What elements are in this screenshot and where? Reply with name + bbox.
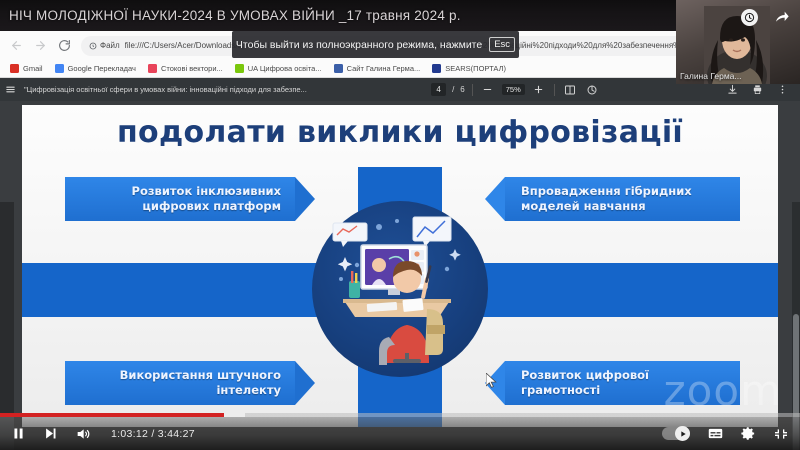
rotate-icon[interactable] [584, 82, 600, 98]
banner-line-2: моделей навчання [521, 199, 726, 214]
bookmark-item[interactable]: SEARS(ПОРТАЛ) [432, 64, 506, 73]
total-duration: 3:44:27 [158, 428, 195, 440]
esc-key-badge: Esc [489, 37, 515, 52]
recorded-window-title: НІЧ МОЛОДІЖНОЇ НАУКИ-2024 В УМОВАХ ВІЙНИ… [0, 8, 461, 23]
file-scheme-label: Файл [89, 41, 120, 50]
bookmark-label: Google Перекладач [68, 64, 136, 73]
plus-icon[interactable] [531, 82, 547, 98]
toolbar-divider [472, 84, 473, 96]
pause-icon[interactable] [11, 426, 26, 441]
hamburger-menu-icon[interactable] [0, 84, 20, 95]
bookmark-favicon [55, 64, 64, 73]
toolbar-divider [554, 84, 555, 96]
remote-learning-illustration [327, 213, 477, 365]
banner-line-1: Розвиток інклюзивних [83, 184, 281, 199]
two-page-view-icon[interactable] [562, 82, 578, 98]
page-indicator: 4 / 6 [431, 83, 465, 96]
autoplay-knob [675, 426, 690, 441]
participant-name: Галина Герма... [680, 71, 742, 81]
bookmark-favicon [334, 64, 343, 73]
connector-band-left [22, 263, 340, 317]
bookmark-item[interactable]: UA Цифрова освіта... [235, 64, 322, 73]
autoplay-toggle[interactable] [662, 427, 690, 440]
bookmark-favicon [10, 64, 19, 73]
pdf-document-title: "Цифровізація освітньої сфери в умовах в… [24, 85, 307, 94]
bookmark-label: SEARS(ПОРТАЛ) [445, 64, 506, 73]
zoom-watermark: zoom [664, 370, 782, 412]
gear-icon[interactable] [741, 426, 756, 441]
bookmark-label: Сайт Галина Герма... [347, 64, 421, 73]
mouse-cursor-icon [486, 373, 497, 393]
zoom-controls: 75% [480, 82, 547, 98]
file-scheme-text: Файл [100, 41, 120, 50]
slide-title: подолати виклики цифровізації [22, 115, 778, 150]
participant-video-thumbnail[interactable]: Галина Герма... [676, 0, 800, 84]
bookmark-item[interactable]: Стокові вектори... [148, 64, 223, 73]
volume-icon[interactable] [75, 426, 91, 442]
arrow-left-icon[interactable] [9, 38, 24, 53]
connector-band-right [474, 263, 778, 317]
bookmark-item[interactable]: Gmail [10, 64, 43, 73]
video-frame[interactable]: НІЧ МОЛОДІЖНОЇ НАУКИ-2024 В УМОВАХ ВІЙНИ… [0, 0, 800, 450]
clock-icon [741, 9, 758, 26]
banner-top-right: Впровадження гібридних моделей навчання [505, 177, 740, 221]
fullscreen-exit-toast: Чтобы выйти из полноэкранного режима, на… [232, 31, 519, 58]
banner-line-2: цифрових платформ [83, 199, 281, 214]
bookmark-label: Gmail [23, 64, 43, 73]
current-time: 1:03:12 [111, 428, 148, 440]
reload-icon[interactable] [57, 38, 72, 53]
banner-bottom-left: Використання штучного інтелекту [65, 361, 295, 405]
controls-row: 1:03:12 / 3:44:27 [0, 417, 800, 450]
bookmark-label: UA Цифрова освіта... [248, 64, 322, 73]
bookmark-favicon [235, 64, 244, 73]
view-controls [562, 82, 600, 98]
total-pages: 6 [460, 85, 464, 94]
bookmark-item[interactable]: Google Перекладач [55, 64, 136, 73]
screen-recording-player: НІЧ МОЛОДІЖНОЇ НАУКИ-2024 В УМОВАХ ВІЙНИ… [0, 0, 800, 450]
current-page-input[interactable]: 4 [431, 83, 446, 96]
page-separator: / [452, 85, 454, 94]
minus-icon[interactable] [480, 82, 496, 98]
subtitles-icon[interactable] [707, 425, 724, 442]
fullscreen-toast-message: Чтобы выйти из полноэкранного режима, на… [236, 39, 482, 51]
banner-line-1: Використання штучного [83, 368, 281, 383]
bookmark-item[interactable]: Сайт Галина Герма... [334, 64, 421, 73]
share-arrow-icon[interactable] [774, 9, 790, 30]
exit-fullscreen-icon[interactable] [773, 426, 789, 442]
next-track-icon[interactable] [43, 426, 58, 441]
banner-top-left: Розвиток інклюзивних цифрових платформ [65, 177, 295, 221]
bookmark-favicon [148, 64, 157, 73]
banner-line-1: Впровадження гібридних [521, 184, 726, 199]
time-display: 1:03:12 / 3:44:27 [111, 428, 195, 440]
video-player-controls: 1:03:12 / 3:44:27 [0, 414, 800, 450]
bookmark-label: Стокові вектори... [161, 64, 223, 73]
banner-line-2: інтелекту [83, 383, 281, 398]
time-separator: / [151, 428, 154, 440]
arrow-right-icon[interactable] [33, 38, 48, 53]
zoom-level[interactable]: 75% [502, 84, 525, 95]
bookmark-favicon [432, 64, 441, 73]
